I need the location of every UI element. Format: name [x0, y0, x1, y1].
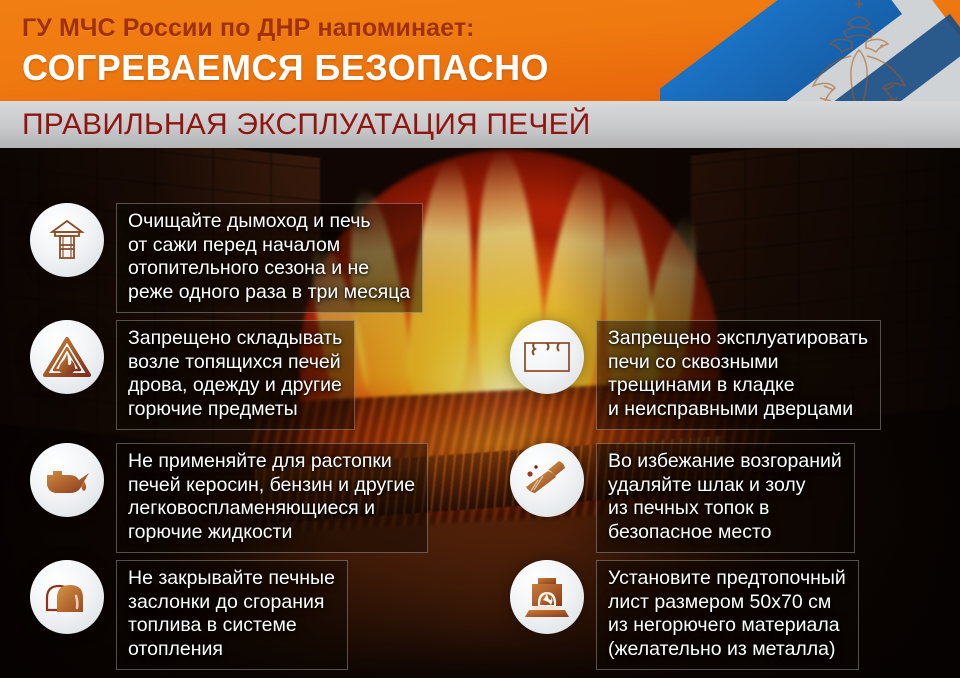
tip-text: Не применяйте для растопки печей керосин…: [128, 450, 415, 544]
broom-sweeping-icon: [510, 443, 584, 517]
header-reminder-line: ГУ МЧС России по ДНР напоминает:: [22, 14, 475, 43]
tip-text-box: Не закрывайте печные заслонки до сгорани…: [116, 560, 348, 670]
tip-install-hearth-sheet: Установите предтопочный лист размером 50…: [510, 560, 859, 670]
tip-do-not-close-dampers: Не закрывайте печные заслонки до сгорани…: [30, 560, 348, 670]
tip-text: Запрещено складывать возле топящихся печ…: [128, 327, 342, 421]
tip-text-box: Установите предтопочный лист размером 50…: [596, 560, 859, 670]
tip-no-storage-near-stove: Запрещено складывать возле топящихся печ…: [30, 320, 355, 430]
tip-text-box: Запрещено эксплуатировать печи со сквозн…: [596, 320, 881, 430]
subtitle-text: ПРАВИЛЬНАЯ ЭКСПЛУАТАЦИЯ ПЕЧЕЙ: [22, 108, 591, 142]
chimney-icon: [30, 203, 104, 277]
oil-can-icon: [30, 443, 104, 517]
tip-text-box: Не применяйте для растопки печей керосин…: [116, 443, 428, 553]
tip-text-box: Во избежание возгораний удаляйте шлак и …: [596, 443, 855, 553]
tip-text: Во избежание возгораний удаляйте шлак и …: [608, 450, 842, 544]
tip-text-box: Очищайте дымоход и печь от сажи перед на…: [116, 203, 423, 313]
tip-chimney-cleaning: Очищайте дымоход и печь от сажи перед на…: [30, 203, 423, 313]
tip-no-cracked-masonry: Запрещено эксплуатировать печи со сквозн…: [510, 320, 881, 430]
cracked-brick-icon: [510, 320, 584, 394]
tip-text: Запрещено эксплуатировать печи со сквозн…: [608, 327, 868, 421]
header-main-title: СОГРЕВАЕМСЯ БЕЗОПАСНО: [22, 47, 549, 89]
stove-damper-icon: [30, 560, 104, 634]
tip-text: Очищайте дымоход и печь от сажи перед на…: [128, 210, 410, 304]
tip-text-box: Запрещено складывать возле топящихся печ…: [116, 320, 355, 430]
tip-text: Не закрывайте печные заслонки до сгорани…: [128, 567, 335, 661]
header-banner: ГУ МЧС России по ДНР напоминает: СОГРЕВА…: [0, 0, 960, 101]
tip-no-flammable-liquids: Не применяйте для растопки печей керосин…: [30, 443, 428, 553]
stove-fireplace-icon: [510, 560, 584, 634]
tip-remove-ash-and-slag: Во избежание возгораний удаляйте шлак и …: [510, 443, 855, 553]
infographic-poster: ГУ МЧС России по ДНР напоминает: СОГРЕВА…: [0, 0, 960, 678]
russian-flag-ribbon: [660, 0, 960, 101]
tip-text: Установите предтопочный лист размером 50…: [608, 567, 846, 661]
subtitle-banner: ПРАВИЛЬНАЯ ЭКСПЛУАТАЦИЯ ПЕЧЕЙ: [0, 101, 960, 148]
flammable-warning-triangle-icon: [30, 320, 104, 394]
